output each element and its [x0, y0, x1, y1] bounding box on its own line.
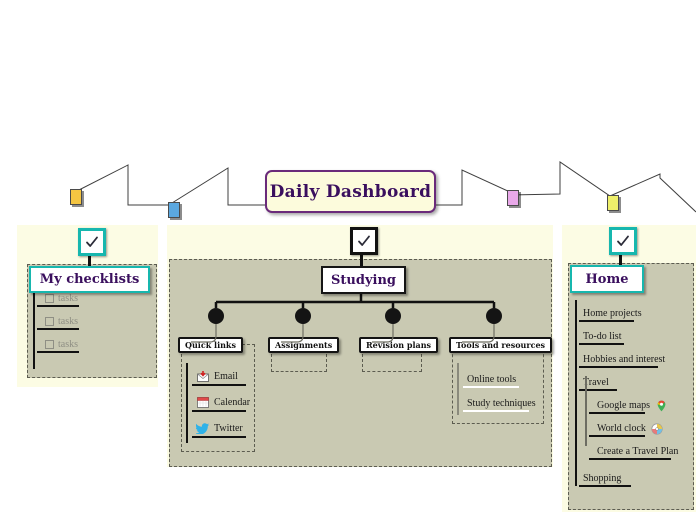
twitter-icon — [196, 422, 209, 435]
clock-icon — [651, 422, 664, 435]
checkbox-left[interactable] — [78, 228, 106, 256]
list-item-label: tasks — [58, 339, 78, 350]
list-item-label: To-do list — [583, 331, 621, 342]
marker-pink[interactable] — [507, 190, 519, 206]
item-underline — [589, 412, 645, 414]
marker-yellow[interactable] — [607, 195, 619, 211]
list-item[interactable]: Hobbies and interest — [579, 348, 689, 371]
subnode-quick-links: Quick links Email — [181, 344, 255, 452]
list-item[interactable]: Twitter — [190, 415, 248, 441]
item-underline — [463, 410, 529, 412]
panel-right-header-label: Home — [586, 272, 629, 287]
list-item[interactable]: Google maps — [579, 394, 689, 417]
list-item[interactable]: Travel — [579, 371, 689, 394]
email-icon — [196, 370, 209, 383]
list-item-label: Shopping — [583, 473, 621, 484]
map-pin-icon — [655, 399, 668, 412]
panel-center-header-label: Studying — [331, 273, 396, 288]
list-item[interactable]: Study techniques — [463, 391, 537, 415]
panel-home: Home projects To-do list Hobbies and int… — [568, 263, 694, 510]
check-icon — [616, 234, 630, 248]
list-item-label: tasks — [58, 316, 78, 327]
list-item[interactable]: tasks — [37, 310, 150, 333]
check-icon — [85, 235, 99, 249]
task-checkbox-icon[interactable] — [45, 317, 54, 326]
item-underline — [589, 458, 671, 460]
panel-right-subrail — [585, 376, 587, 446]
page-title-label: Daily Dashboard — [270, 182, 432, 202]
item-underline — [37, 305, 79, 307]
list-item-label: Home projects — [583, 308, 642, 319]
list-item-label: Study techniques — [467, 398, 536, 409]
marker-blue[interactable] — [168, 202, 180, 218]
mindmap-canvas: Daily Dashboard tasks tasks tasks — [0, 0, 696, 520]
subnode-quick-links-items: Email Calendar — [190, 363, 248, 447]
item-underline — [192, 436, 246, 438]
list-item-label: World clock — [597, 423, 646, 434]
list-item-label: Calendar — [214, 397, 250, 408]
item-underline — [589, 435, 645, 437]
page-title[interactable]: Daily Dashboard — [265, 170, 436, 213]
list-item-label: Twitter — [214, 423, 243, 434]
list-item-label: Online tools — [467, 374, 516, 385]
list-item-label: Google maps — [597, 400, 650, 411]
list-item[interactable]: Home projects — [579, 302, 689, 325]
list-item-label: Hobbies and interest — [583, 354, 665, 365]
list-item[interactable]: Create a Travel Plan — [579, 440, 689, 463]
list-item[interactable]: tasks — [37, 333, 150, 356]
item-underline — [579, 485, 631, 487]
item-underline — [579, 320, 634, 322]
subnode-rail — [186, 363, 188, 443]
item-underline — [192, 384, 246, 386]
item-underline — [37, 351, 79, 353]
list-item-label: Email — [214, 371, 238, 382]
list-item[interactable]: To-do list — [579, 325, 689, 348]
calendar-icon — [196, 396, 209, 409]
task-checkbox-icon[interactable] — [45, 340, 54, 349]
list-item-label: Travel — [583, 377, 609, 388]
subnode-tools-items: Online tools Study techniques — [463, 367, 537, 419]
panel-center-header[interactable]: Studying — [321, 266, 406, 294]
checkbox-right[interactable] — [609, 227, 637, 255]
center-tree-connectors — [169, 288, 551, 358]
item-underline — [37, 328, 79, 330]
task-checkbox-icon[interactable] — [45, 294, 54, 303]
check-icon — [357, 234, 371, 248]
marker-orange[interactable] — [70, 189, 82, 205]
panel-left-header-label: My checklists — [40, 272, 140, 287]
list-item[interactable]: World clock — [579, 417, 689, 440]
subnode-rail — [457, 363, 459, 415]
item-underline — [463, 386, 519, 388]
item-underline — [579, 366, 658, 368]
list-item-label: tasks — [58, 293, 78, 304]
list-item-label: Create a Travel Plan — [597, 446, 678, 457]
panel-left-header[interactable]: My checklists — [29, 266, 150, 293]
list-item[interactable]: Online tools — [463, 367, 537, 391]
panel-left-rail — [33, 285, 35, 369]
list-item[interactable]: Shopping — [579, 467, 689, 490]
item-underline — [579, 343, 624, 345]
panel-right-header[interactable]: Home — [570, 265, 644, 293]
list-item[interactable]: Calendar — [190, 389, 248, 415]
panel-right-rail — [575, 300, 577, 486]
list-item[interactable]: Email — [190, 363, 248, 389]
item-underline — [192, 410, 246, 412]
checkbox-center[interactable] — [350, 227, 378, 255]
